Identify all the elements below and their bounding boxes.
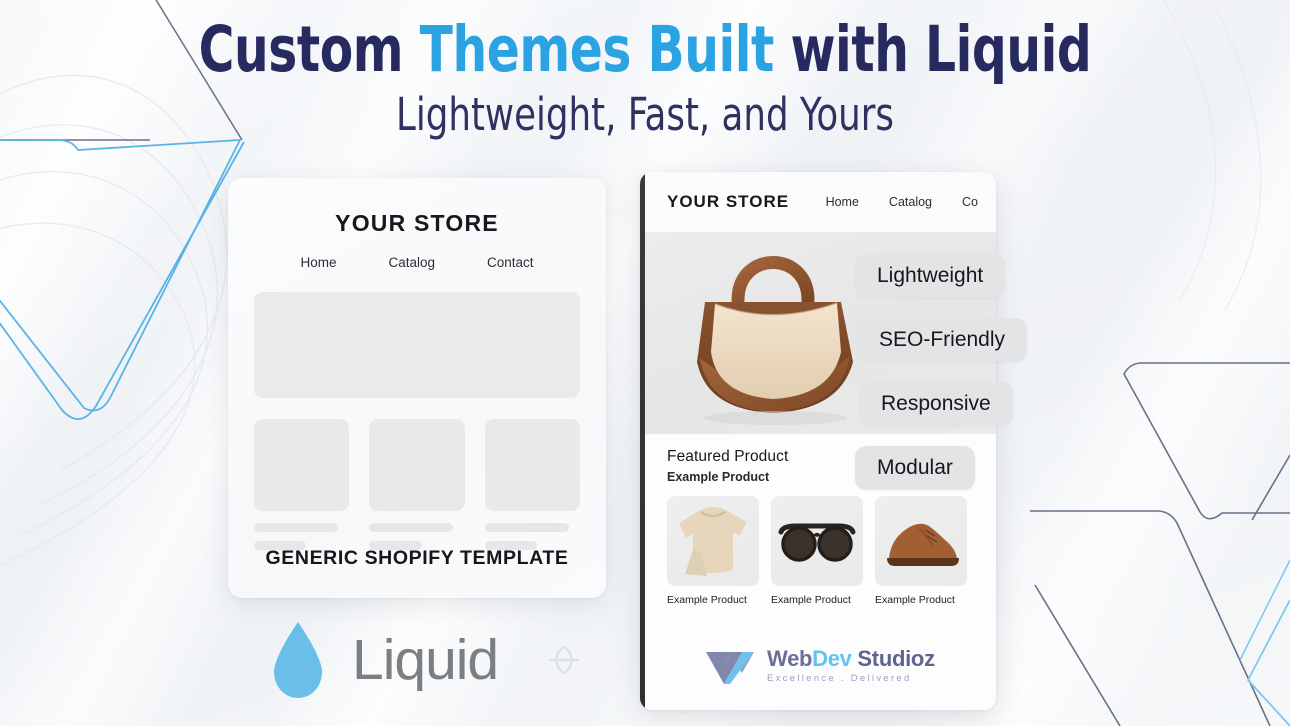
webdev-name: WebDev Studioz — [767, 648, 935, 670]
placeholder-thumb — [369, 419, 464, 511]
custom-theme-card: YOUR STORE Home Catalog Co — [640, 172, 996, 710]
left-hero-placeholder — [254, 292, 580, 398]
page-title: Custom Themes Built with Liquid — [90, 18, 1199, 82]
sunglasses-illustration — [771, 496, 863, 586]
headline-block: Custom Themes Built with Liquid Lightwei… — [0, 18, 1290, 141]
liquid-accent-icon — [544, 643, 584, 677]
webdev-name-part-2: Dev — [812, 646, 851, 671]
water-droplet-icon — [270, 618, 326, 702]
product-label: Example Product — [771, 594, 863, 606]
product-label: Example Product — [875, 594, 967, 606]
left-nav: Home Catalog Contact — [254, 255, 580, 270]
right-nav-item-contact[interactable]: Co — [962, 195, 978, 209]
left-grid-cell — [369, 419, 464, 550]
left-product-grid — [254, 419, 580, 550]
left-grid-cell — [254, 419, 349, 550]
product-item[interactable]: Example Product — [771, 496, 863, 606]
webdev-name-part-1: Web — [767, 646, 812, 671]
webdev-name-part-3: Studioz — [852, 646, 935, 671]
headline-part-1: Custom — [199, 13, 420, 86]
right-store-title: YOUR STORE — [667, 192, 789, 212]
right-nav-item-catalog[interactable]: Catalog — [889, 195, 932, 209]
product-list: Example Product Example Product — [667, 496, 980, 606]
left-grid-cell — [485, 419, 580, 550]
shoe-illustration — [875, 496, 967, 586]
placeholder-bar — [369, 523, 453, 532]
placeholder-thumb — [254, 419, 349, 511]
sweater-image — [667, 496, 759, 586]
device-bezel — [640, 172, 645, 710]
right-nav: Home Catalog Co — [826, 195, 978, 209]
liquid-logo: Liquid — [270, 618, 584, 702]
webdev-text-block: WebDev Studioz Excellence . Delivered — [767, 648, 935, 684]
left-store-title: YOUR STORE — [254, 210, 580, 237]
feature-pill-responsive[interactable]: Responsive — [859, 382, 1013, 426]
left-nav-item-contact[interactable]: Contact — [487, 255, 534, 270]
headline-part-2: Themes Built — [420, 13, 774, 86]
feature-pill-lightweight[interactable]: Lightweight — [855, 254, 1005, 298]
sweater-illustration — [667, 496, 759, 586]
right-nav-item-home[interactable]: Home — [826, 195, 859, 209]
generic-template-card: YOUR STORE Home Catalog Contact GENERIC … — [228, 178, 606, 598]
product-item[interactable]: Example Product — [667, 496, 759, 606]
page-subtitle: Lightweight, Fast, and Yours — [77, 88, 1212, 141]
product-label: Example Product — [667, 594, 759, 606]
webdev-mark-icon — [702, 646, 758, 686]
left-card-caption: GENERIC SHOPIFY TEMPLATE — [228, 547, 606, 570]
left-nav-item-home[interactable]: Home — [300, 255, 336, 270]
placeholder-thumb — [485, 419, 580, 511]
product-item[interactable]: Example Product — [875, 496, 967, 606]
liquid-wordmark: Liquid — [352, 627, 498, 693]
sunglasses-image — [771, 496, 863, 586]
webdev-studioz-logo: WebDev Studioz Excellence . Delivered — [702, 646, 935, 686]
left-nav-item-catalog[interactable]: Catalog — [388, 255, 435, 270]
placeholder-bar — [485, 523, 569, 532]
webdev-tagline: Excellence . Delivered — [767, 674, 935, 684]
placeholder-bar — [254, 523, 338, 532]
feature-pill-modular[interactable]: Modular — [855, 446, 975, 490]
shoe-image — [875, 496, 967, 586]
headline-part-3: with Liquid — [774, 13, 1091, 86]
right-card-header: YOUR STORE Home Catalog Co — [640, 172, 996, 232]
feature-pill-seo-friendly[interactable]: SEO-Friendly — [857, 318, 1027, 362]
